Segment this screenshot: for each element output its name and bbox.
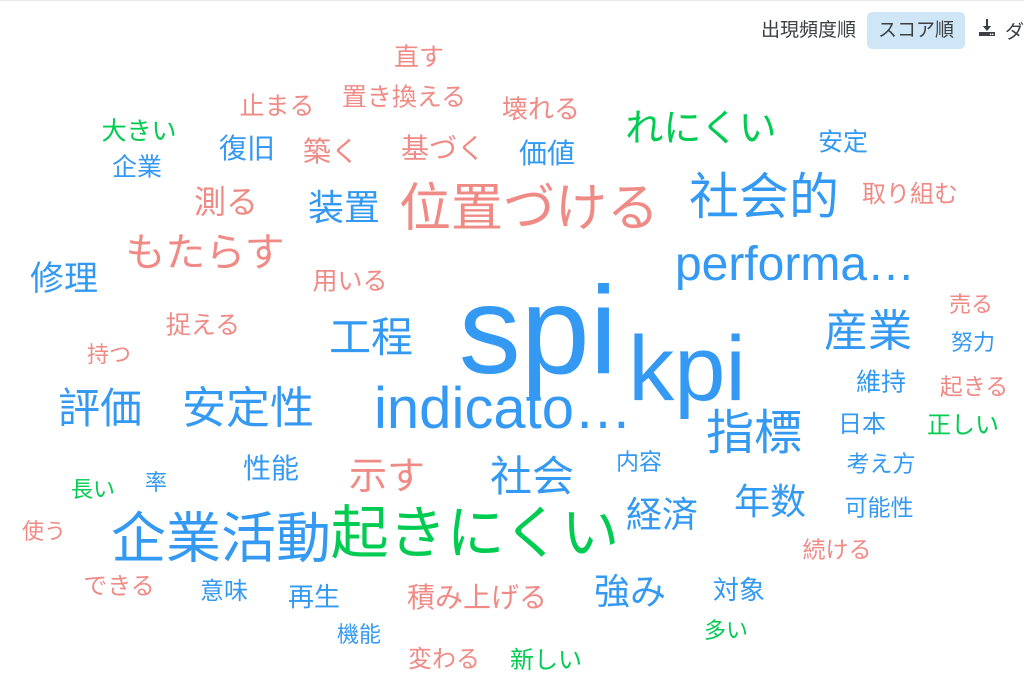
wordcloud-word[interactable]: 起きにくい (331, 505, 620, 563)
wordcloud-word[interactable]: 止まる (239, 95, 314, 120)
wordcloud-word[interactable]: 対象 (713, 577, 765, 603)
wordcloud-word[interactable]: 社会 (490, 456, 574, 498)
wordcloud-word[interactable]: 年数 (734, 484, 806, 520)
wordcloud-word[interactable]: kpi (628, 323, 746, 415)
wordcloud-word[interactable]: 内容 (616, 451, 662, 474)
wordcloud-word[interactable]: 大きい (101, 120, 176, 145)
wordcloud-word[interactable]: 考え方 (847, 453, 916, 476)
download-label: ダ (1005, 17, 1024, 44)
wordcloud-word[interactable]: 正しい (927, 414, 999, 438)
sort-by-score-button[interactable]: スコア順 (867, 12, 965, 49)
wordcloud-word[interactable]: れにくい (625, 110, 776, 148)
wordcloud-word[interactable]: 起きる (940, 376, 1009, 399)
wordcloud-word[interactable]: 意味 (200, 580, 248, 604)
wordcloud-word[interactable]: 復旧 (219, 135, 275, 163)
wordcloud-word[interactable]: 率 (145, 472, 167, 494)
wordcloud-toolbar: 出現頻度順 スコア順 ダ (750, 8, 1024, 52)
wordcloud-word[interactable]: 企業活動 (111, 512, 331, 567)
wordcloud-word[interactable]: 続ける (803, 539, 872, 562)
wordcloud-word[interactable]: 価値 (519, 140, 575, 168)
wordcloud-word[interactable]: 変わる (408, 648, 480, 672)
wordcloud-word[interactable]: 多い (704, 620, 748, 642)
wordcloud-word[interactable]: 捉える (166, 314, 240, 339)
wordcloud-word[interactable]: indicato… (374, 380, 632, 438)
wordcloud-word[interactable]: 安定性 (182, 387, 314, 431)
wordcloud-word[interactable]: 経済 (626, 497, 698, 533)
wordcloud-word[interactable]: 示す (349, 458, 425, 496)
wordcloud-word[interactable]: 用いる (312, 270, 387, 295)
wordcloud-word[interactable]: spi (459, 269, 618, 393)
wordcloud-word[interactable]: 修理 (30, 262, 98, 296)
wordcloud-word[interactable]: 維持 (856, 371, 906, 396)
wordcloud-word[interactable]: 新しい (510, 649, 582, 673)
wordcloud-word[interactable]: 基づく (401, 135, 485, 163)
wordcloud-word[interactable]: できる (83, 575, 155, 599)
wordcloud-word[interactable]: 長い (71, 479, 115, 501)
wordcloud-word[interactable]: 再生 (288, 584, 340, 610)
wordcloud-word[interactable]: 工程 (329, 317, 413, 359)
wordcloud-word[interactable]: 位置づける (399, 183, 659, 235)
sort-by-frequency-button[interactable]: 出現頻度順 (750, 12, 867, 49)
wordcloud-word[interactable]: 努力 (951, 332, 995, 354)
wordcloud-word[interactable]: 測る (194, 186, 258, 218)
wordcloud-word[interactable]: 産業 (824, 310, 912, 354)
wordcloud-word[interactable]: 性能 (243, 455, 299, 483)
wordcloud-page: 出現頻度順 スコア順 ダ spikpiindicato…起きにくい企業活動位置づ… (0, 0, 1024, 680)
wordcloud-word[interactable]: 強み (594, 574, 666, 610)
wordcloud-word[interactable]: 日本 (838, 413, 886, 437)
wordcloud-word[interactable]: 可能性 (845, 497, 914, 520)
wordcloud-word[interactable]: 装置 (308, 190, 380, 226)
download-button[interactable]: ダ (975, 16, 1024, 45)
wordcloud-word[interactable]: performa… (675, 241, 915, 289)
wordcloud-word[interactable]: 指標 (706, 410, 802, 458)
wordcloud-word[interactable]: 築く (303, 138, 359, 166)
wordcloud-word[interactable]: 直す (394, 46, 444, 71)
wordcloud-word[interactable]: 売る (949, 294, 993, 316)
wordcloud-word[interactable]: 企業 (112, 156, 162, 181)
wordcloud-word[interactable]: もたらす (125, 233, 284, 273)
download-icon (975, 16, 999, 45)
wordcloud-word[interactable]: 置き換える (342, 86, 466, 111)
wordcloud-word[interactable]: 評価 (58, 388, 142, 430)
wordcloud-word[interactable]: 安定 (818, 131, 868, 156)
wordcloud-word[interactable]: 社会的 (689, 172, 839, 222)
wordcloud-word[interactable]: 壊れる (502, 96, 580, 122)
wordcloud-canvas[interactable]: spikpiindicato…起きにくい企業活動位置づけるperforma…社会… (0, 1, 1024, 680)
wordcloud-word[interactable]: 使う (22, 521, 66, 543)
wordcloud-word[interactable]: 取り組む (862, 183, 958, 207)
wordcloud-word[interactable]: 積み上げる (407, 584, 547, 612)
wordcloud-word[interactable]: 持つ (87, 344, 131, 366)
wordcloud-word[interactable]: 機能 (337, 624, 381, 646)
